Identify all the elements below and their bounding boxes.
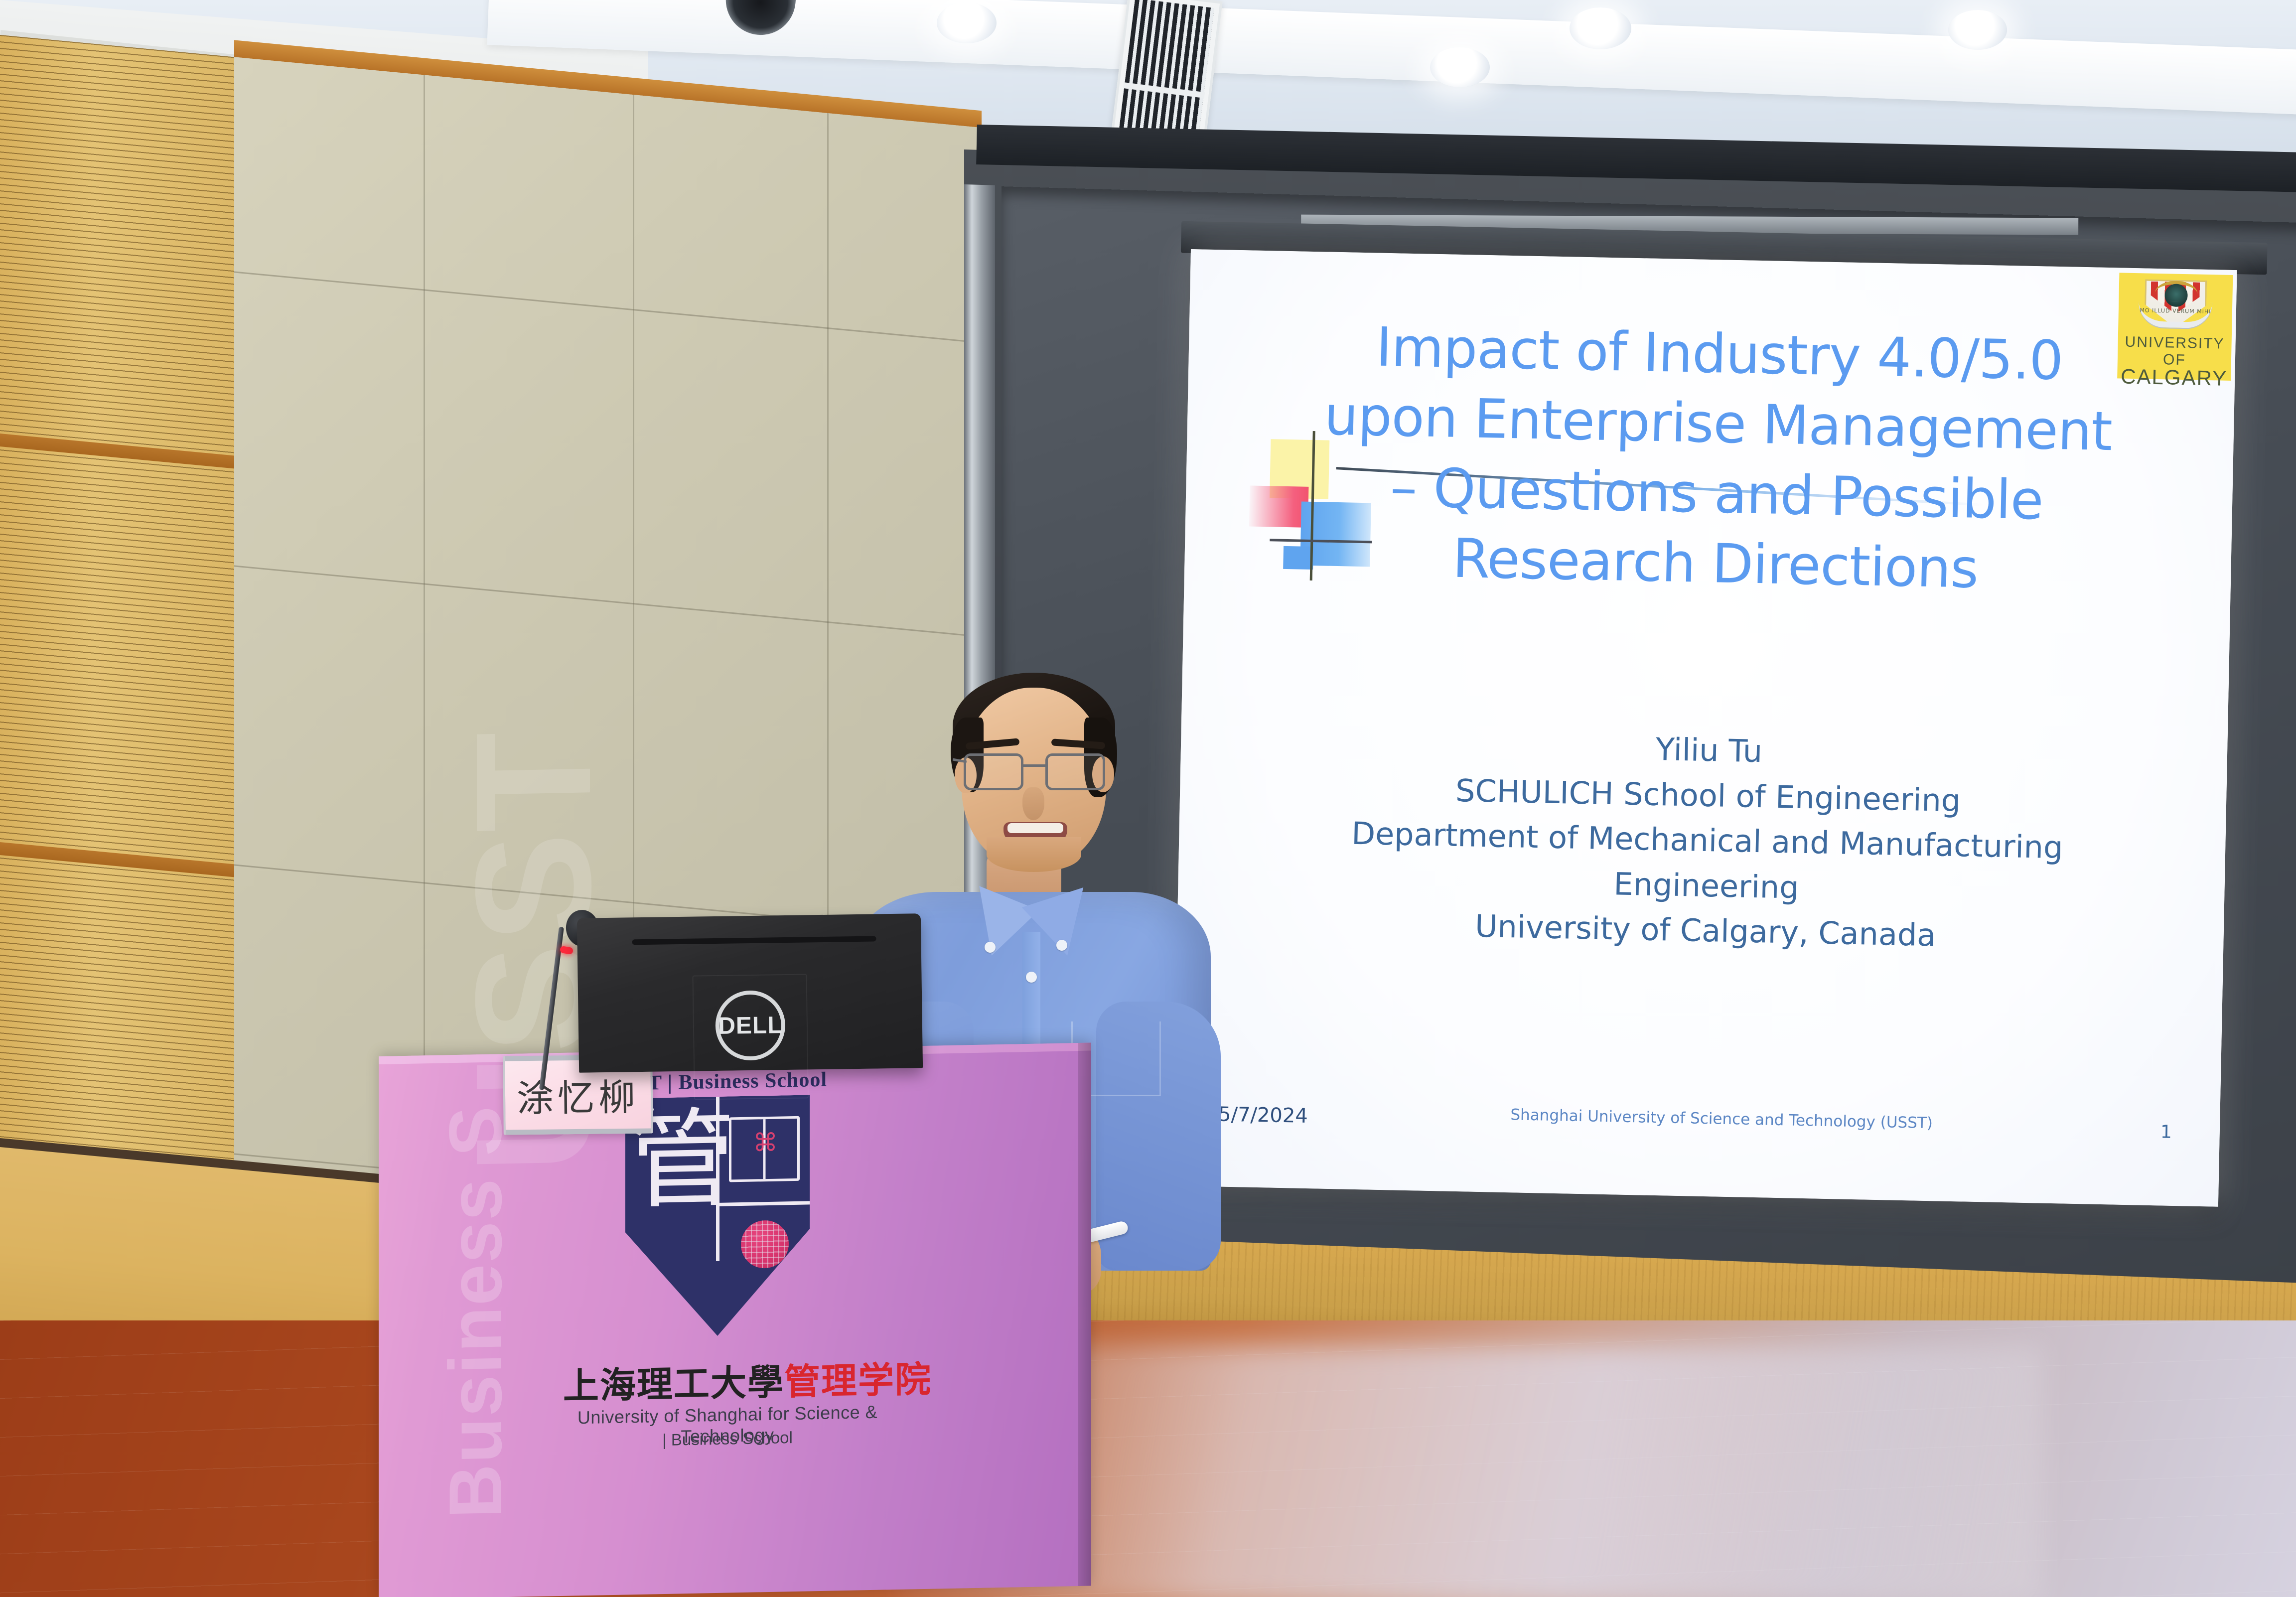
monitor-vent-slot bbox=[632, 936, 876, 945]
shirt-button-1 bbox=[1026, 972, 1037, 983]
eyeglass-lens-right bbox=[1045, 753, 1105, 790]
slide-subtitle: Yiliu Tu SCHULICH School of Engineering … bbox=[1237, 719, 2178, 963]
downlight-3 bbox=[1570, 7, 1631, 49]
podium-banner: USST Business S USST | Business School 管… bbox=[379, 1043, 1091, 1597]
usst-chinese-black: 上海理工大學 bbox=[563, 1362, 784, 1407]
presentation-slide: Impact of Industry 4.0/5.0 upon Enterpri… bbox=[1172, 249, 2237, 1207]
downlight-1 bbox=[937, 2, 997, 43]
presenter-nose bbox=[1022, 787, 1044, 820]
crest-book-seal-icon: ⌘ bbox=[753, 1128, 775, 1163]
projection-screen: Impact of Industry 4.0/5.0 upon Enterpri… bbox=[1171, 249, 2252, 1232]
collar-button-right bbox=[1056, 940, 1067, 951]
slide-footer-text: Shanghai University of Science and Techn… bbox=[1472, 1105, 1971, 1133]
calgary-logo-line-1: UNIVERSITY OF bbox=[2118, 333, 2232, 370]
crest-globe-icon bbox=[741, 1220, 789, 1269]
dell-logo-text: DELL bbox=[715, 990, 786, 1061]
eyeglass-lens-left bbox=[964, 753, 1023, 790]
screen-surface: Impact of Industry 4.0/5.0 upon Enterpri… bbox=[1172, 249, 2237, 1207]
downlight-5 bbox=[1948, 10, 2007, 50]
dell-logo-icon: DELL bbox=[715, 990, 786, 1061]
presenter-chin bbox=[987, 837, 1081, 872]
slide-page-number: 1 bbox=[2160, 1122, 2172, 1142]
lecture-hall-photo: Impact of Industry 4.0/5.0 upon Enterpri… bbox=[0, 0, 2296, 1597]
calgary-logo-line-2: CALGARY bbox=[2117, 364, 2231, 391]
slide-footer: 5/7/2024 Shanghai University of Science … bbox=[1173, 1096, 2220, 1157]
collar-button-left bbox=[985, 942, 996, 953]
calgary-crest-icon: MO ILLUD VERUM MIHI bbox=[2135, 276, 2216, 333]
university-of-calgary-logo: MO ILLUD VERUM MIHI UNIVERSITY OF CALGAR… bbox=[2117, 273, 2233, 381]
slide-title: Impact of Industry 4.0/5.0 upon Enterpri… bbox=[1259, 310, 2176, 608]
usst-chinese-name: 上海理工大學管理学院 bbox=[563, 1350, 892, 1409]
podium-right-edge bbox=[1078, 1043, 1091, 1586]
stone-seam-h1 bbox=[234, 271, 982, 343]
wood-panel-seam bbox=[0, 434, 234, 468]
usst-chinese-red: 管理学院 bbox=[784, 1360, 932, 1403]
presenter-eyeglasses bbox=[961, 753, 1108, 792]
eyeglass-bridge bbox=[1023, 764, 1045, 767]
dell-monitor: DELL bbox=[577, 913, 923, 1073]
wood-panel-seam-2 bbox=[0, 842, 234, 877]
name-card-text: 涂忆柳 bbox=[516, 1067, 639, 1122]
podium-watermark-business: Business S bbox=[432, 1105, 519, 1519]
downlight-4 bbox=[1430, 47, 1490, 87]
presenter-teeth bbox=[1007, 823, 1063, 833]
